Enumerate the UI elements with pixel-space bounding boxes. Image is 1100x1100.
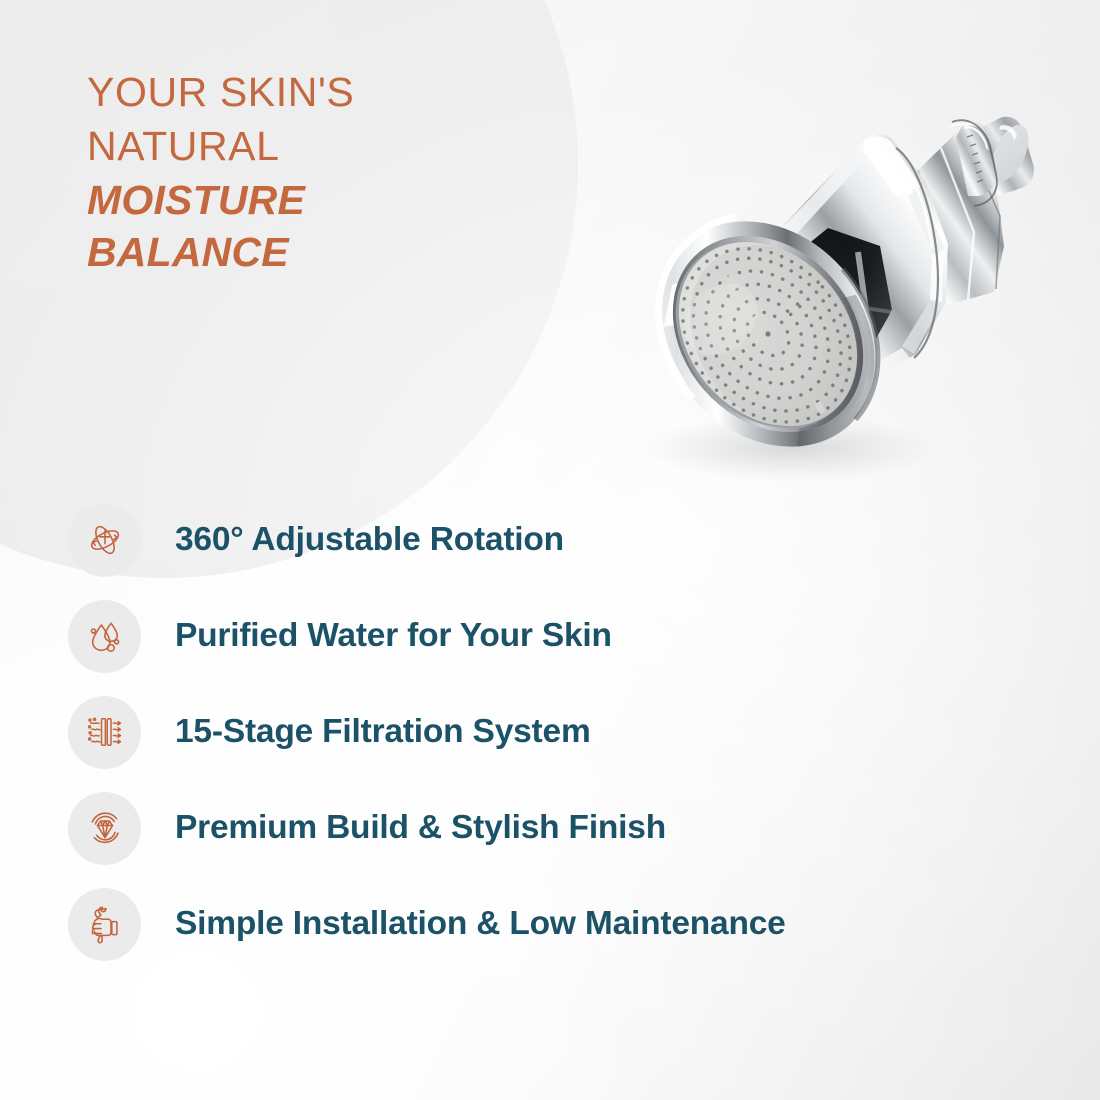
list-item[interactable]: Purified Water for Your Skin — [68, 588, 1048, 684]
hand-wrench-icon — [68, 888, 141, 961]
diamond-quality-icon — [68, 792, 141, 865]
list-item-label: Purified Water for Your Skin — [175, 617, 612, 655]
feature-list: 360° Adjustable Rotation Purified Water … — [68, 492, 1048, 972]
rotation-360-icon — [68, 504, 141, 577]
product-image-showerhead — [596, 96, 1052, 488]
headline-line-3: MOISTURE — [87, 180, 507, 221]
headline-line-4: BALANCE — [87, 232, 507, 273]
list-item-label: Premium Build & Stylish Finish — [175, 809, 666, 847]
headline-line-1: YOUR SKIN'S — [87, 72, 507, 113]
filter-membrane-icon — [68, 696, 141, 769]
list-item-label: 360° Adjustable Rotation — [175, 521, 564, 559]
list-item[interactable]: Premium Build & Stylish Finish — [68, 780, 1048, 876]
product-feature-banner: YOUR SKIN'S NATURAL MOISTURE BALANCE — [0, 0, 1100, 1100]
headline-block: YOUR SKIN'S NATURAL MOISTURE BALANCE — [87, 72, 507, 284]
list-item[interactable]: Simple Installation & Low Maintenance — [68, 876, 1048, 972]
water-droplets-icon — [68, 600, 141, 673]
list-item[interactable]: 360° Adjustable Rotation — [68, 492, 1048, 588]
list-item-label: Simple Installation & Low Maintenance — [175, 905, 786, 943]
list-item-label: 15-Stage Filtration System — [175, 713, 591, 751]
list-item[interactable]: 15-Stage Filtration System — [68, 684, 1048, 780]
headline-line-2: NATURAL — [87, 126, 507, 167]
